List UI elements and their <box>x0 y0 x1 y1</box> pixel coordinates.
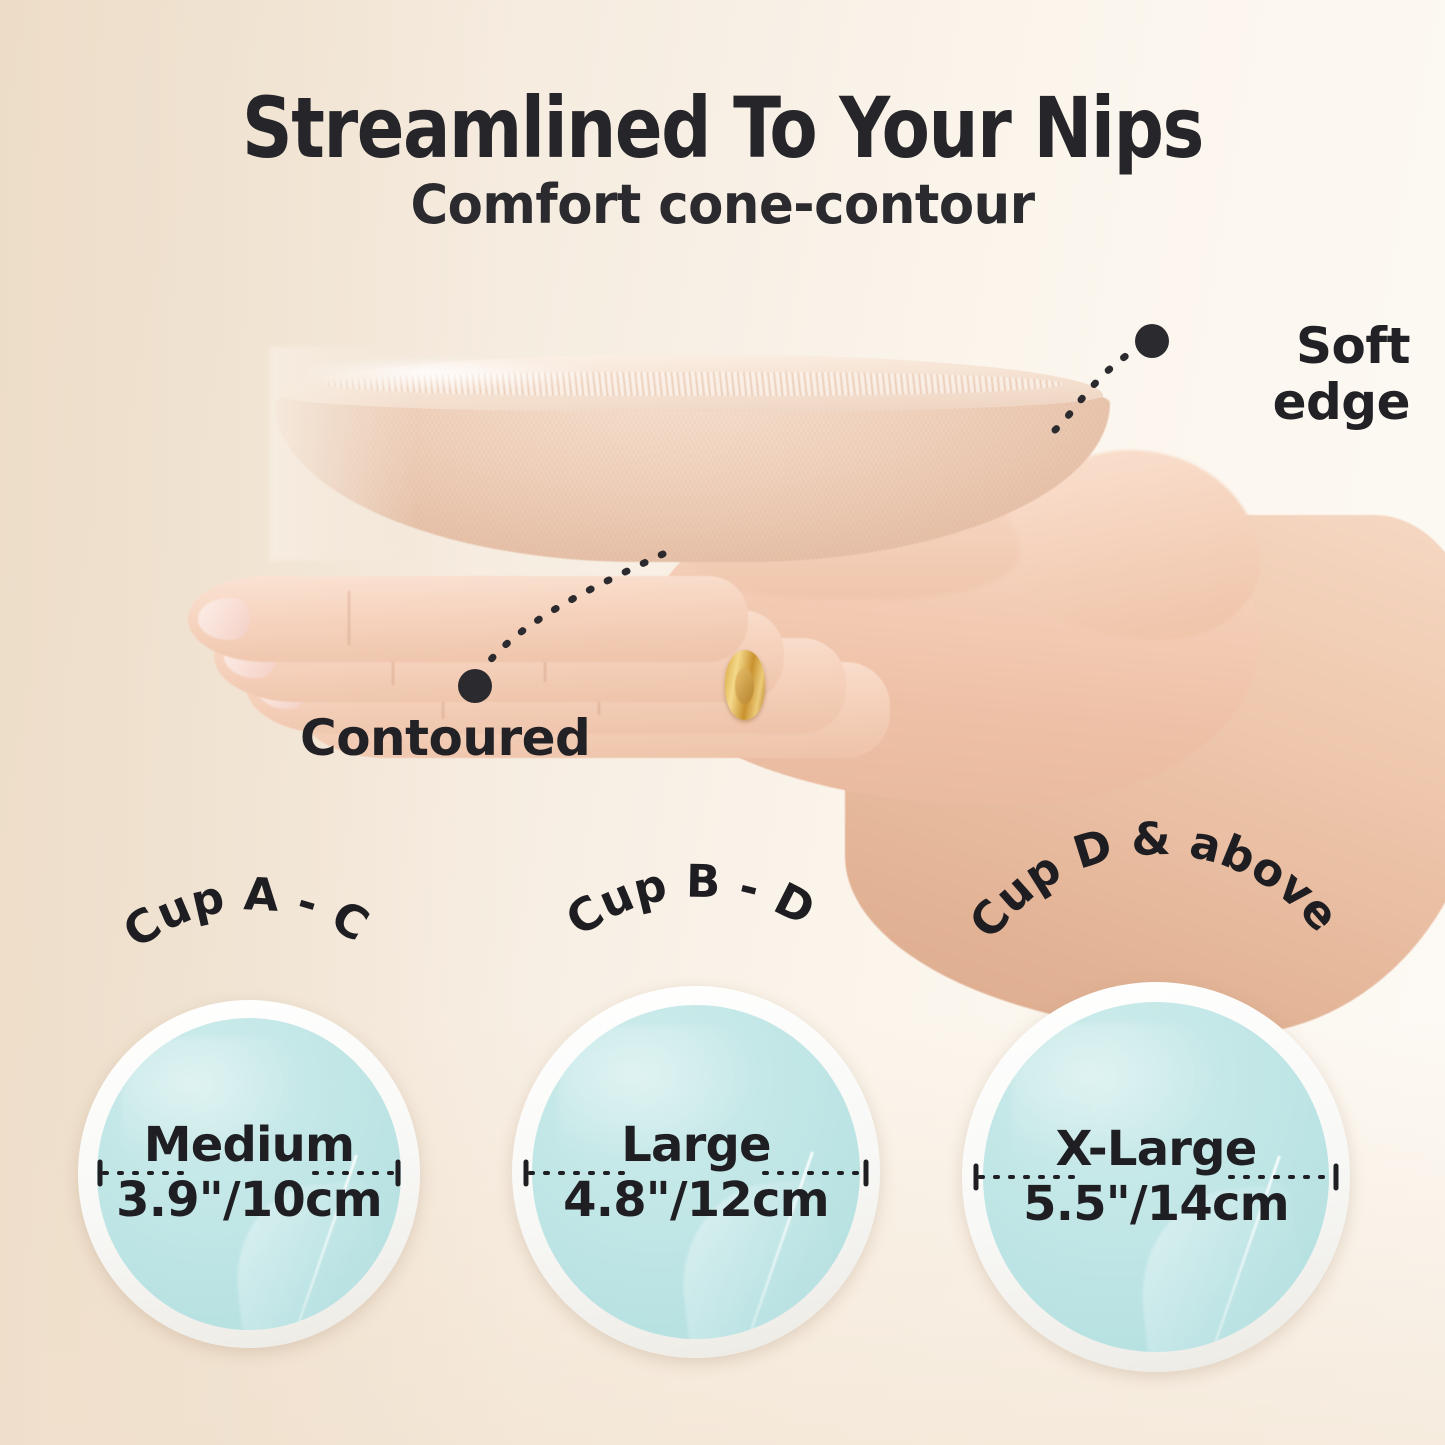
callout-soft-edge-line1: Soft <box>1296 317 1410 375</box>
callout-contoured-line1: Contoured <box>300 709 590 767</box>
size-option-large[interactable]: Cup B - D Large 4.8"/12cm <box>512 986 880 1358</box>
size-guide: Cup A - C Medium 3.9"/10cm <box>0 900 1445 1400</box>
size-dimension-x-large: 5.5"/14cm <box>962 1177 1350 1232</box>
finger-crease <box>348 591 350 644</box>
finger-index <box>188 576 748 662</box>
callout-contoured: Contoured <box>300 710 630 766</box>
ring-inner <box>735 668 754 704</box>
page-title: Streamlined To Your Nips <box>51 86 1395 170</box>
nursing-pad-side-view <box>275 346 1110 561</box>
size-name-large: Large <box>512 1118 880 1173</box>
callout-soft-edge: Soft edge <box>1160 318 1410 430</box>
cup-label-arc-x-large: Cup D & above <box>962 868 1350 998</box>
size-name-medium: Medium <box>78 1118 420 1173</box>
size-option-x-large[interactable]: Cup D & above X-Large 5.5"/14cm <box>962 982 1350 1372</box>
size-dimension-medium: 3.9"/10cm <box>78 1173 420 1228</box>
gold-ring <box>725 650 765 720</box>
fingernail <box>198 598 250 639</box>
page-subtitle: Comfort cone-contour <box>36 178 1409 232</box>
product-infographic: Streamlined To Your Nips Comfort cone-co… <box>0 0 1445 1445</box>
size-dimension-large: 4.8"/12cm <box>512 1173 880 1228</box>
callout-soft-edge-line2: edge <box>1273 373 1410 431</box>
size-name-x-large: X-Large <box>962 1122 1350 1177</box>
cup-label-arc-medium: Cup A - C <box>78 898 420 1018</box>
size-option-medium[interactable]: Cup A - C Medium 3.9"/10cm <box>78 1000 420 1348</box>
cup-label-arc-large: Cup B - D <box>512 882 880 1002</box>
pad-left-fade <box>269 346 419 561</box>
